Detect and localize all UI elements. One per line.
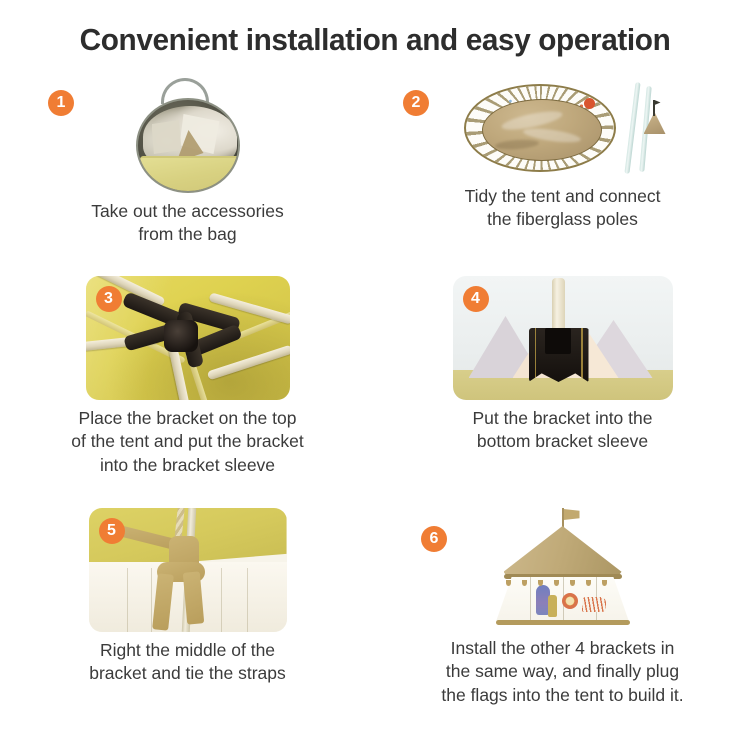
tent-roof-fabric [482,99,602,161]
step-image-5: 5 [89,508,287,632]
tent-flag-icon [564,509,580,520]
flag-icon [653,100,655,116]
tent-tassel [506,580,511,586]
step-number-badge-6: 6 [421,526,447,552]
tent-tassel [570,580,575,586]
step-card-1: 1 Take out the accessories from the bag [0,78,375,276]
step-card-2: 2 [375,78,750,276]
tent-body [496,577,630,623]
step-image-6 [478,508,648,630]
step-caption-3: Place the bracket on the top of the tent… [0,407,375,477]
step-card-5: 5 Right the middle of the [0,508,375,730]
step-caption-5: Right the middle of the bracket and tie … [0,639,375,686]
step-number-badge-2: 2 [403,90,429,116]
step-caption-2: Tidy the tent and connect the fiberglass… [375,185,750,232]
giraffe-illustration [548,595,557,617]
tent-tassel [522,580,527,586]
flattened-tent [464,84,616,172]
bracket-hub [164,320,198,352]
instruction-infographic: Convenient installation and easy operati… [0,0,750,750]
step-card-4: 4 Put the bracket into the bottom bracke… [375,276,750,508]
step-caption-4: Put the bracket into the bottom bracket … [375,407,750,454]
step-number-badge-5: 5 [99,518,125,544]
step-image-1 [128,78,248,193]
step-image-2 [458,78,668,178]
bag-body [136,98,240,193]
zebra-illustration [582,597,606,612]
tent-tassel [602,580,607,586]
steps-row-2: 3 Place [0,276,750,508]
fiberglass-pole [624,82,640,174]
tent-tassel [586,580,591,586]
steps-row-1: 1 Take out the accessories from the bag [0,78,750,276]
sleeve-opening [545,328,571,354]
page-title: Convenient installation and easy operati… [15,22,735,58]
lion-illustration [562,593,578,609]
fabric-pleat [247,568,249,632]
tent-seam [530,577,531,623]
step-number-badge-1: 1 [48,90,74,116]
step-image-3: 3 [86,276,290,400]
step-number-badge-4: 4 [463,286,489,312]
bag-paper-item [152,120,182,154]
tent-tassel [554,580,559,586]
fabric-pleat [127,568,129,632]
step-image-4: 4 [453,276,673,400]
steps-grid: 1 Take out the accessories from the bag [0,78,750,730]
fabric-pleat [221,568,223,632]
steps-row-3: 5 Right the middle of the [0,508,750,730]
tent-label-dot [584,98,595,109]
step-caption-6: Install the other 4 brackets in the same… [375,637,750,707]
fabric-fold [494,138,539,150]
step-caption-1: Take out the accessories from the bag [0,200,375,247]
tent-conical-roof [504,526,622,578]
tent-tassel [538,580,543,586]
step-card-3: 3 Place [0,276,375,508]
step-card-6: 6 [375,508,750,730]
step-number-badge-3: 3 [96,286,122,312]
tent-base-trim [496,620,630,625]
bag-rim [144,184,236,193]
